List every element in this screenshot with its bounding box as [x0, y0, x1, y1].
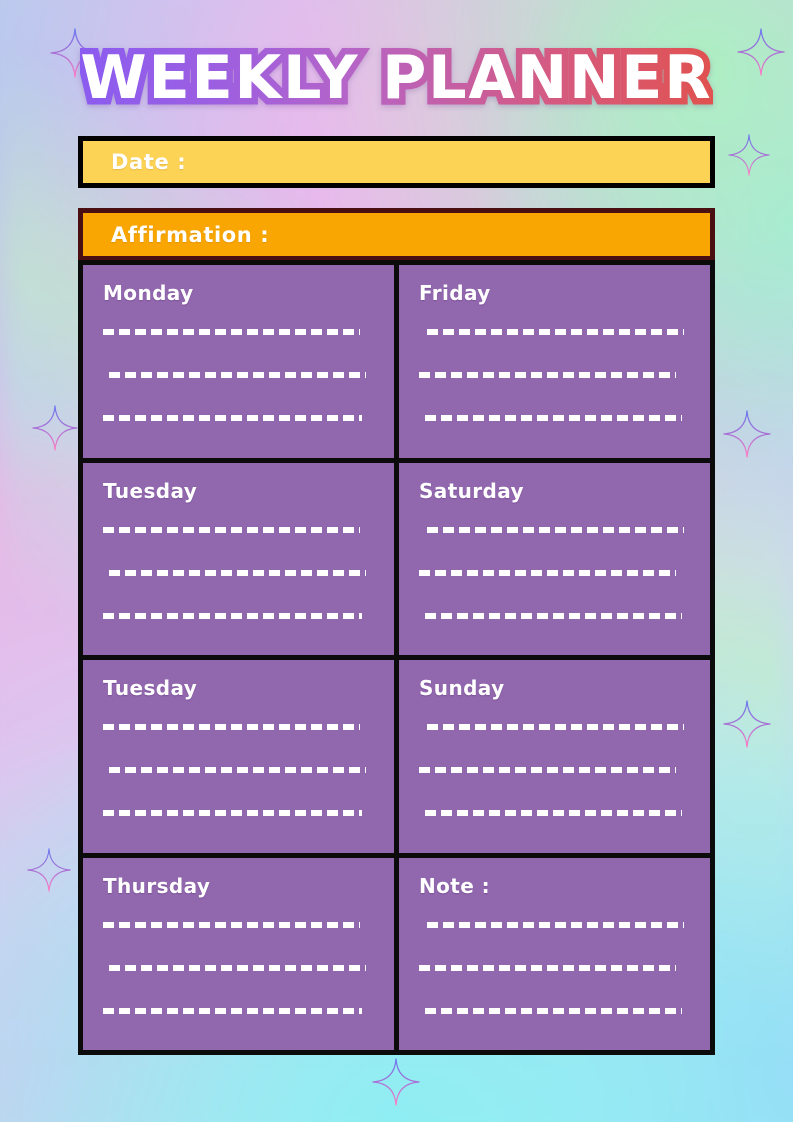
planner-cell-tuesday[interactable]: Tuesday [83, 463, 394, 656]
dashed-writing-line[interactable] [109, 767, 366, 773]
planner-cell-friday[interactable]: Friday [399, 265, 710, 458]
planner-cell-sunday[interactable]: Sunday [399, 660, 710, 853]
dashed-writing-line[interactable] [103, 613, 362, 619]
planner-cell-title: Tuesday [103, 676, 374, 700]
dashed-writing-line[interactable] [103, 922, 360, 928]
planner-cell-monday[interactable]: Monday [83, 265, 394, 458]
dashed-writing-line[interactable] [425, 415, 682, 421]
planner-cell-writing-lines[interactable] [419, 706, 690, 841]
dashed-writing-line[interactable] [419, 965, 676, 971]
planner-cell-writing-lines[interactable] [103, 311, 374, 446]
planner-cell-title: Friday [419, 281, 690, 305]
dashed-writing-line[interactable] [419, 372, 676, 378]
page-title: WEEKLY PLANNER [80, 48, 712, 108]
dashed-writing-line[interactable] [103, 329, 360, 335]
affirmation-label: Affirmation : [83, 223, 269, 247]
planner-cell-writing-lines[interactable] [419, 509, 690, 644]
planner-cell-saturday[interactable]: Saturday [399, 463, 710, 656]
dashed-writing-line[interactable] [425, 810, 682, 816]
dashed-writing-line[interactable] [103, 415, 362, 421]
dashed-writing-line[interactable] [103, 724, 360, 730]
dashed-writing-line[interactable] [109, 372, 366, 378]
dashed-writing-line[interactable] [427, 527, 684, 533]
planner-cell-tuesday-2[interactable]: Tuesday [83, 660, 394, 853]
dashed-writing-line[interactable] [419, 570, 676, 576]
planner-cell-title: Saturday [419, 479, 690, 503]
dashed-writing-line[interactable] [103, 810, 362, 816]
planner-cell-writing-lines[interactable] [103, 509, 374, 644]
date-label: Date : [83, 150, 186, 174]
planner-cell-title: Monday [103, 281, 374, 305]
dashed-writing-line[interactable] [109, 965, 366, 971]
dashed-writing-line[interactable] [425, 1008, 682, 1014]
dashed-writing-line[interactable] [419, 767, 676, 773]
dashed-writing-line[interactable] [427, 922, 684, 928]
page-title-wrap: WEEKLY PLANNER [0, 30, 793, 126]
planner-grid: MondayFridayTuesdaySaturdayTuesdaySunday… [78, 260, 715, 1055]
planner-cell-thursday[interactable]: Thursday [83, 858, 394, 1051]
date-field[interactable]: Date : [78, 136, 715, 188]
affirmation-field[interactable]: Affirmation : [78, 208, 715, 261]
dashed-writing-line[interactable] [425, 613, 682, 619]
dashed-writing-line[interactable] [103, 1008, 362, 1014]
planner-cell-writing-lines[interactable] [103, 706, 374, 841]
planner-cell-writing-lines[interactable] [419, 311, 690, 446]
planner-cell-writing-lines[interactable] [419, 904, 690, 1039]
dashed-writing-line[interactable] [109, 570, 366, 576]
dashed-writing-line[interactable] [427, 724, 684, 730]
planner-cell-title: Tuesday [103, 479, 374, 503]
planner-cell-title: Sunday [419, 676, 690, 700]
planner-cell-title: Note : [419, 874, 690, 898]
planner-cell-title: Thursday [103, 874, 374, 898]
dashed-writing-line[interactable] [427, 329, 684, 335]
planner-cell-writing-lines[interactable] [103, 904, 374, 1039]
planner-cell-note[interactable]: Note : [399, 858, 710, 1051]
dashed-writing-line[interactable] [103, 527, 360, 533]
